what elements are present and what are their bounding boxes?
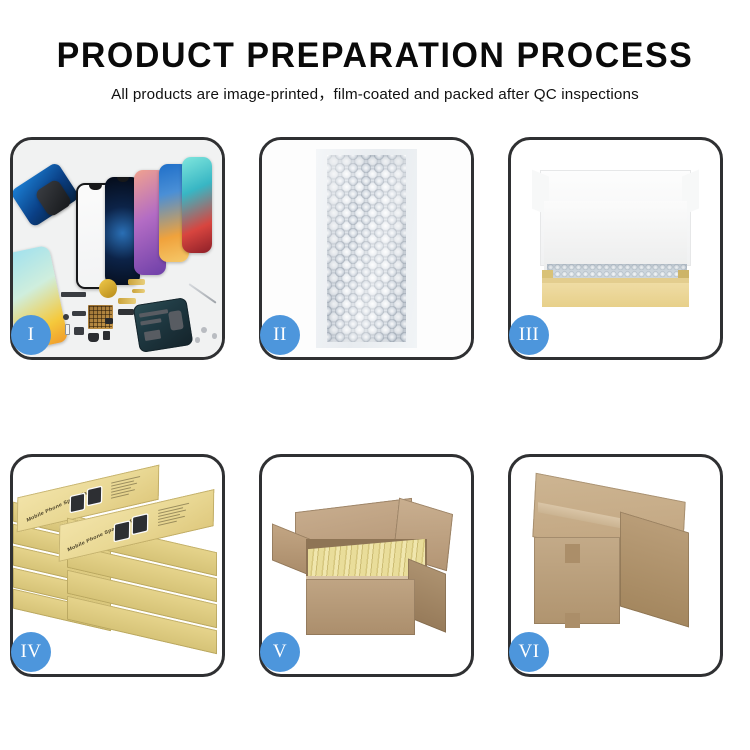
step-badge-6: VI <box>509 632 549 672</box>
part-backshell <box>133 297 194 353</box>
carton-front-panel <box>306 579 415 635</box>
step-badge-3: III <box>509 315 549 355</box>
product-preparation-infographic: PRODUCT PREPARATION PROCESS All products… <box>0 0 750 750</box>
phone-notch <box>89 185 101 190</box>
step-badge-2: II <box>260 315 300 355</box>
part-coil <box>99 279 118 299</box>
step-panel-inner-box[interactable]: III <box>508 137 723 360</box>
step-panel-bubble-wrap[interactable]: II <box>259 137 474 360</box>
box-inner-wall <box>544 201 686 270</box>
step-panel-carton-sealed[interactable]: VI <box>508 454 723 677</box>
step-panel-boxed-stack[interactable]: Mobile Phone Spare Parts <box>10 454 225 677</box>
step-badge-1: I <box>11 315 51 355</box>
page-title: PRODUCT PREPARATION PROCESS <box>11 38 739 73</box>
steps-row-top: I II <box>10 137 740 362</box>
steps-row-bottom: Mobile Phone Spare Parts <box>10 454 740 679</box>
step-badge-5: V <box>260 632 300 672</box>
part-flex-cable <box>128 279 145 286</box>
box-front-panel <box>542 283 688 307</box>
steps-grid: I II <box>10 137 740 750</box>
header: PRODUCT PREPARATION PROCESS All products… <box>0 0 750 102</box>
step-panel-product-parts[interactable]: I <box>10 137 225 360</box>
page-subtitle: All products are image-printed，film-coat… <box>0 87 750 102</box>
part-bracket <box>61 292 86 297</box>
step-badge-4: IV <box>11 632 51 672</box>
tool-tweezers <box>188 283 217 304</box>
step-panel-carton-filled[interactable]: V <box>259 454 474 677</box>
bubble-wrap-gloss <box>327 155 406 342</box>
part-pcb <box>88 305 113 329</box>
carton-tab-bottom <box>565 613 580 628</box>
sealed-carton-side <box>620 512 689 629</box>
carton-tab-top <box>565 544 580 564</box>
